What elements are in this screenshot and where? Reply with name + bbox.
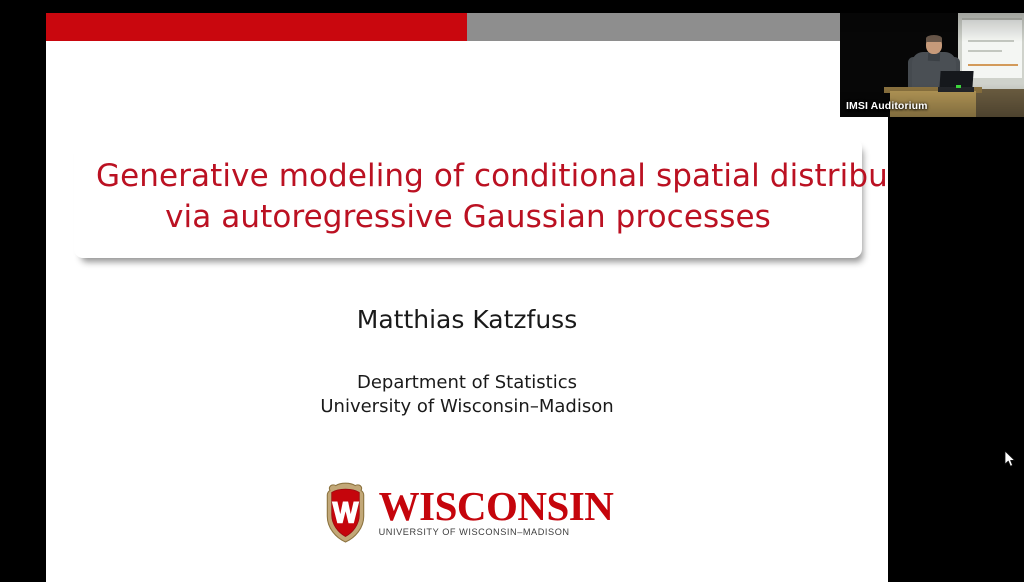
mouse-pointer-icon [1004,450,1016,468]
speaker-video-overlay[interactable]: IMSI Auditorium [840,13,1024,117]
video-side-table [968,89,1024,117]
slide-header-gray-segment [467,13,888,41]
uw-madison-logo: WISCONSIN UNIVERSITY OF WISCONSIN–MADISO… [46,481,888,544]
slide-affiliation-line-2: University of Wisconsin–Madison [46,395,888,419]
uw-logo-tagline: UNIVERSITY OF WISCONSIN–MADISON [379,528,614,537]
video-location-label: IMSI Auditorium [846,100,928,112]
slide-title-line-1: Generative modeling of conditional spati… [96,156,840,197]
slide-title-line-2: via autoregressive Gaussian processes [96,197,840,238]
slide-header-bar [46,13,888,41]
video-laptop-indicator-light [956,85,961,88]
presentation-slide: Generative modeling of conditional spati… [46,13,888,582]
video-projection-screen [962,18,1022,78]
uw-crest-shield-icon [321,481,370,544]
slide-header-red-segment [46,13,467,41]
uw-logo-wordmark: WISCONSIN UNIVERSITY OF WISCONSIN–MADISO… [379,487,614,537]
slide-title-block: Generative modeling of conditional spati… [74,138,862,258]
screen-viewport: Generative modeling of conditional spati… [0,0,1024,582]
uw-logo-wisconsin-text: WISCONSIN [379,487,614,526]
slide-affiliation: Department of Statistics University of W… [46,371,888,420]
slide-author: Matthias Katzfuss [46,305,888,334]
slide-title-block-wrapper: Generative modeling of conditional spati… [74,138,862,258]
video-speaker-hair [926,35,942,42]
slide-affiliation-line-1: Department of Statistics [46,371,888,395]
